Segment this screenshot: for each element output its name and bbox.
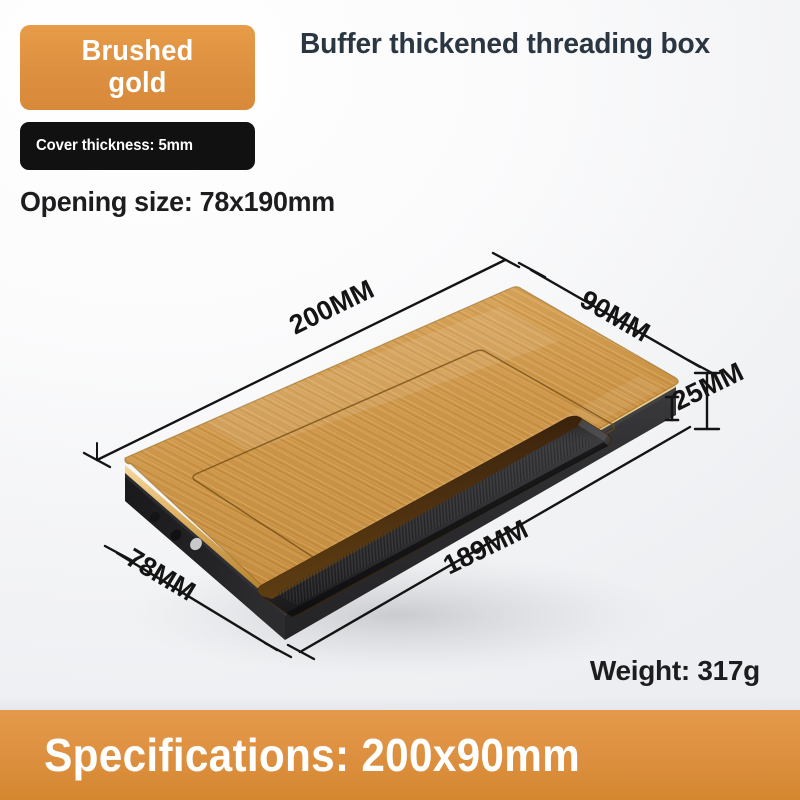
cover-thickness-label: Cover thickness: 5mm [36,137,193,155]
color-variant-badge[interactable]: Brushedgold [20,25,255,110]
color-variant-label: Brushedgold [82,36,194,99]
product-illustration: 200MM 90MM 25MM 189MM 78MM [0,215,800,705]
specifications-label: Specifications: 200x90mm [0,728,580,782]
label-200mm: 200MM [284,274,378,340]
weight-label: Weight: 317g [590,655,760,687]
cover-thickness-badge: Cover thickness: 5mm [20,122,255,170]
page-title: Buffer thickened threading box [300,28,775,61]
opening-size-label: Opening size: 78x190mm [20,186,335,218]
specifications-banner: Specifications: 200x90mm [0,710,800,800]
product-image-canvas: Brushedgold Cover thickness: 5mm Buffer … [0,0,800,800]
